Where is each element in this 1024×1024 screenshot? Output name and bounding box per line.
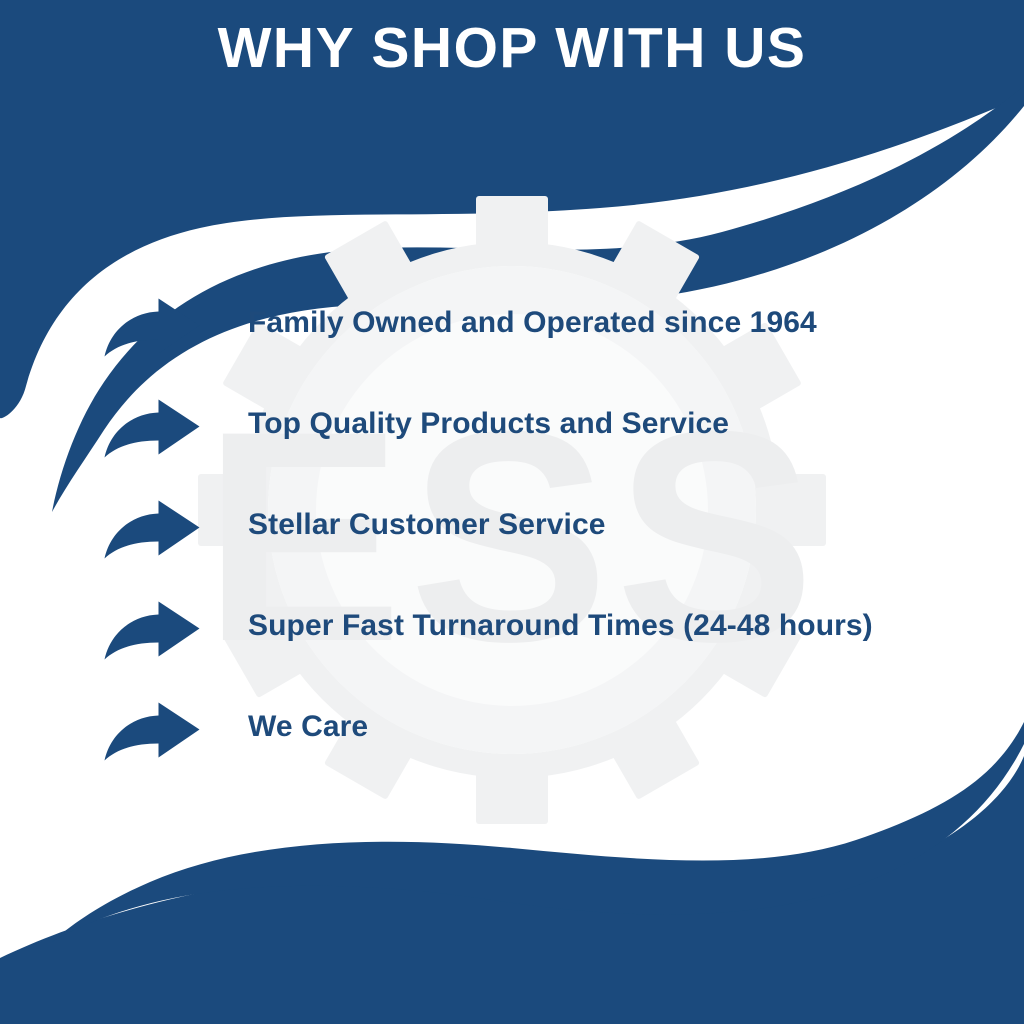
list-item-label: We Care [248,708,964,746]
list-item-label: Family Owned and Operated since 1964 [248,304,964,342]
benefits-list: Family Owned and Operated since 1964 Top… [104,296,964,801]
list-item: Super Fast Turnaround Times (24-48 hours… [104,599,964,700]
curved-arrow-right-icon [104,399,200,461]
poster-title-band: WHY SHOP WITH US [0,0,1024,96]
list-item-label: Super Fast Turnaround Times (24-48 hours… [248,607,964,645]
list-item: Stellar Customer Service [104,498,964,599]
curved-arrow-right-icon [104,298,200,360]
curved-arrow-right-icon [104,500,200,562]
list-item: Top Quality Products and Service [104,397,964,498]
list-item: Family Owned and Operated since 1964 [104,296,964,397]
list-item-label: Top Quality Products and Service [248,405,964,443]
page-title: WHY SHOP WITH US [218,20,807,77]
list-item-label: Stellar Customer Service [248,506,964,544]
curved-arrow-right-icon [104,601,200,663]
list-item: We Care [104,700,964,801]
curved-arrow-right-icon [104,702,200,764]
why-shop-with-us-poster: ESS WHY SHOP WITH US Family Owned and Op… [0,0,1024,1024]
